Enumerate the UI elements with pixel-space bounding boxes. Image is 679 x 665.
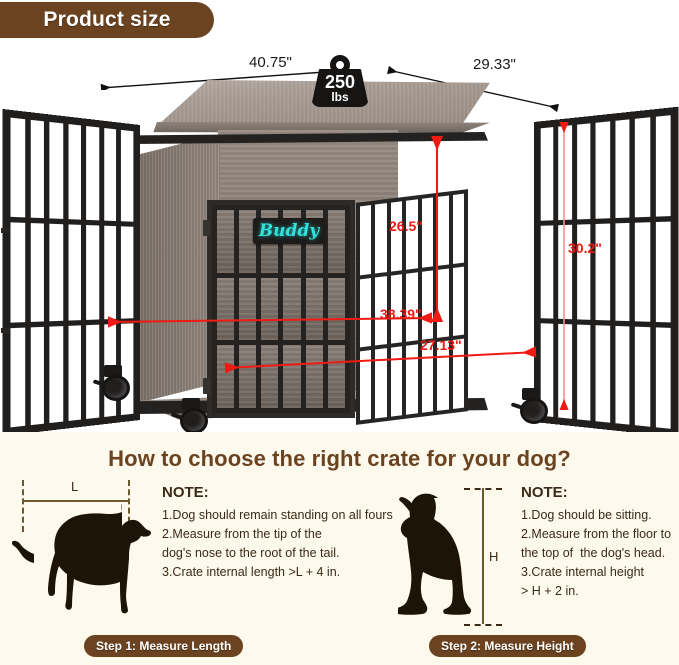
length-note-line-1: 1.Dog should remain standing on all four… (162, 506, 393, 525)
infographic-root: Product size 40.75" 29.33" (0, 0, 679, 665)
height-guide-bar (482, 488, 484, 624)
sitting-dog-silhouette (398, 488, 502, 626)
crate-selection-guide-section: How to choose the right crate for your d… (0, 432, 679, 665)
length-note-line-2: 2.Measure from the tip of the (162, 525, 393, 544)
product-size-section: Product size 40.75" 29.33" (0, 0, 679, 432)
length-note-block: NOTE: 1.Dog should remain standing on al… (162, 484, 393, 582)
height-note-line-4: 3.Crate internal height (521, 563, 671, 582)
interior-length-label: 38.39" (380, 306, 422, 322)
step-1-badge: Step 1: Measure Length (84, 635, 243, 657)
height-note-line-1: 1.Dog should be sitting. (521, 506, 671, 525)
interior-height-label: 26.5" (389, 218, 423, 234)
standing-dog-silhouette (12, 504, 152, 622)
height-note-block: NOTE: 1.Dog should be sitting. 2.Measure… (521, 484, 671, 601)
height-note-line-2: 2.Measure from the floor to (521, 525, 671, 544)
step-2-label: Step 2: Measure Height (441, 639, 574, 653)
length-note-line-4: 3.Crate internal length >L + 4 in. (162, 563, 393, 582)
guide-title: How to choose the right crate for your d… (0, 446, 679, 472)
overall-height-label: 30.2" (568, 240, 602, 256)
step-1-label: Step 1: Measure Length (96, 639, 231, 653)
length-guide-bar (22, 500, 130, 502)
height-guide-bottom-tick (464, 624, 502, 626)
length-note-line-3: dog's nose to the root of the tail. (162, 544, 393, 563)
step-2-badge: Step 2: Measure Height (429, 635, 586, 657)
red-dimension-arrows (0, 0, 679, 432)
height-note-heading: NOTE: (521, 484, 671, 501)
interior-depth-label: 27.13" (420, 337, 462, 353)
length-note-heading: NOTE: (162, 484, 393, 501)
height-note-line-3: the top of the dog's head. (521, 544, 671, 563)
height-note-line-5: > H + 2 in. (521, 582, 671, 601)
height-guide-label: H (489, 549, 498, 564)
length-guide-label: L (71, 479, 78, 494)
